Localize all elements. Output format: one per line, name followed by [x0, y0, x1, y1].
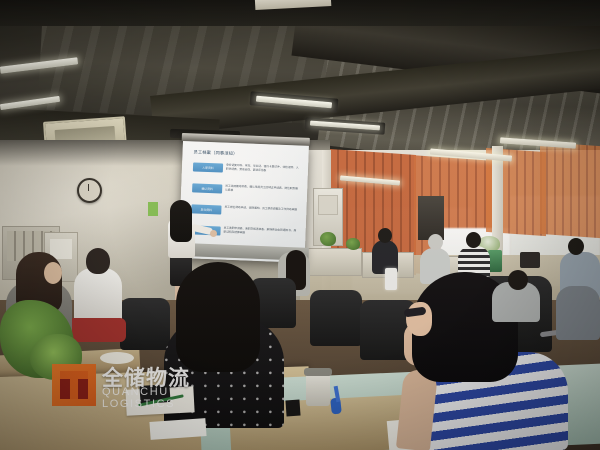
attendee-face	[44, 262, 62, 284]
slide-chip-label: 确认资料	[201, 186, 213, 190]
cup-lid	[304, 368, 332, 376]
office-cabinet-dark	[418, 196, 444, 240]
attendee-head	[86, 248, 110, 274]
thermos-cup	[306, 372, 330, 406]
slide-body-text: 身份证复印件、学历、毕业证、银行卡复印件、体检证明、入职申请表、劳动合同、面试评…	[226, 164, 300, 175]
watermark-english-1: QUANCHU	[102, 386, 169, 398]
attendee-phone-head	[378, 228, 392, 243]
plant-desk-2	[346, 238, 360, 250]
office-chair	[310, 290, 362, 346]
smartphone-icon	[385, 268, 397, 290]
watermark-english-2: LOGISTICS	[102, 398, 175, 410]
slide-row: 异动资料 员工岗位调动申请、调岗通知、员工薪资调整及工作异动单据	[191, 204, 298, 217]
slide-chip: 异动资料	[191, 204, 221, 214]
window-blinds-4	[540, 142, 600, 238]
presenter-hair	[170, 200, 192, 242]
logo-stem	[70, 377, 78, 399]
attendee-head	[568, 238, 584, 255]
slide-chip-label: 入职资料	[202, 165, 214, 169]
presenter-hand	[210, 230, 217, 237]
attendee-hair	[176, 262, 260, 372]
exit-sign-icon	[148, 202, 158, 216]
wall-clock-icon	[77, 178, 102, 203]
logo-watermark: 全储物流 QUANCHU LOGISTICS	[52, 362, 252, 412]
monitor-icon	[520, 252, 540, 268]
slide-body-text: 员工岗位调动申请、调岗通知、员工薪资调整及工作异动单据	[224, 206, 298, 213]
slide-chip: 入职资料	[193, 162, 223, 172]
attendee-head	[428, 234, 443, 250]
slide-title: 员工档案（同事须知）	[193, 149, 237, 157]
slide-body-text: 员工离职申请表、离职交接清单表、解除劳动合同通知书、离职证明及结算单据	[223, 227, 297, 238]
slide-chip: 确认资料	[192, 183, 222, 193]
slide-body-text: 员工试用期考核表、确认录用员工的转正申请表、岗位职责确认表格	[225, 185, 299, 196]
plant-desk-1	[320, 232, 336, 246]
office-chair	[120, 298, 170, 350]
photo-scene: 员工档案（同事须知） 入职资料 身份证复印件、学历、毕业证、银行卡复印件、体检证…	[0, 0, 600, 450]
attendee-head	[466, 232, 481, 248]
attendee-body	[556, 286, 600, 340]
attendee-head	[508, 270, 528, 290]
water-dispenser	[488, 250, 502, 272]
binder-clip	[285, 400, 300, 417]
slide-row: 入职资料 身份证复印件、学历、毕业证、银行卡复印件、体检证明、入职申请表、劳动合…	[193, 162, 300, 175]
slide-row: 确认资料 员工试用期考核表、确认录用员工的转正申请表、岗位职责确认表格	[192, 183, 299, 196]
red-chair	[68, 318, 126, 342]
quanchu-logo-icon	[52, 364, 96, 406]
desk-unit-1	[306, 248, 362, 276]
attendee-body	[74, 268, 122, 324]
slide-chip-label: 异动资料	[201, 207, 213, 211]
